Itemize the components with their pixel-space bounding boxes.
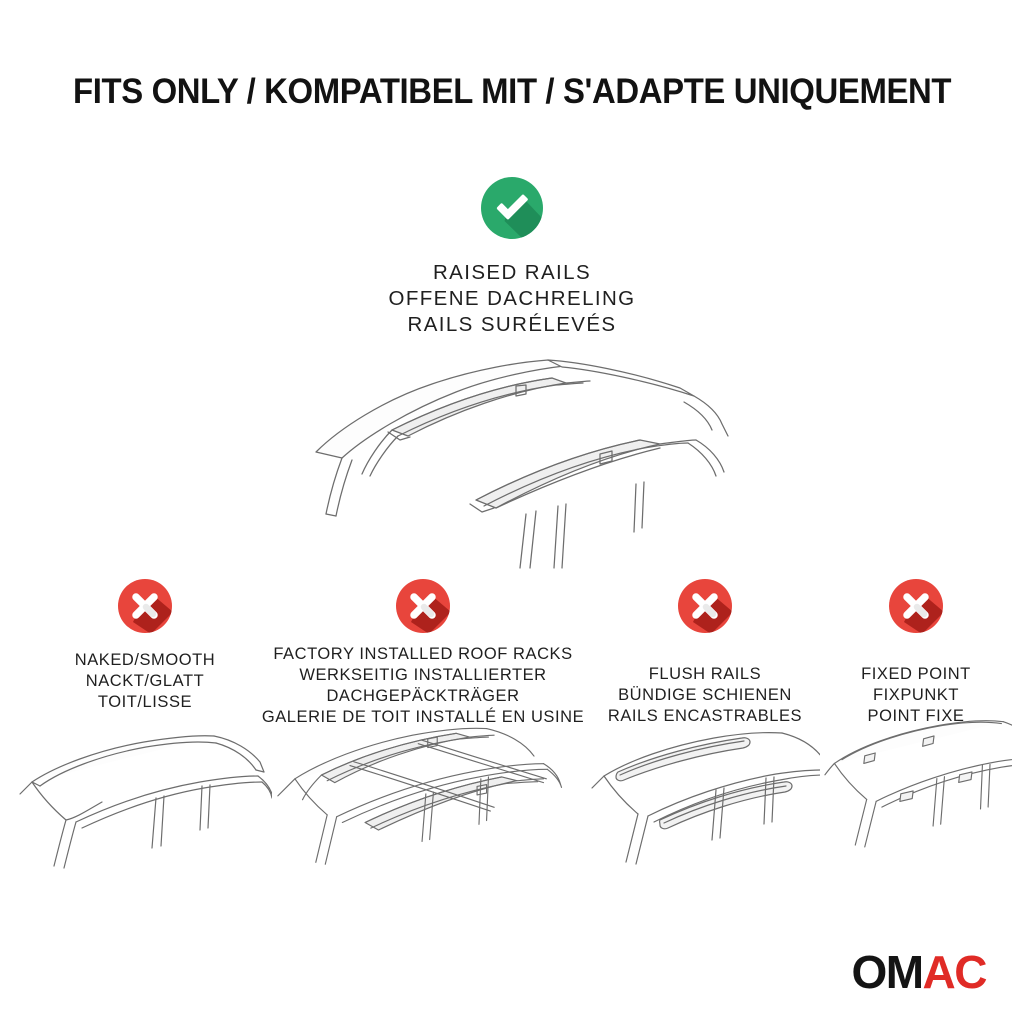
car-roof-flush-rails-drawing	[590, 728, 820, 913]
cross-circle-icon	[117, 578, 173, 634]
incompatible-item-fixed-point: FIXED POINT FIXPUNKT POINT FIXE	[820, 578, 1012, 727]
cross-circle-icon	[888, 578, 944, 634]
label-de-2: DACHGEPÄCKTRÄGER	[258, 686, 588, 707]
incompatible-item-naked-smooth: NAKED/SMOOTH NACKT/GLATT TOIT/LISSE	[18, 578, 272, 713]
car-roof-fixed-point-drawing	[820, 716, 1012, 901]
logo-text-ac: AC	[923, 950, 986, 994]
label-de-1: WERKSEITIG INSTALLIERTER	[258, 665, 588, 686]
label-fr: RAILS ENCASTRABLES	[590, 706, 820, 727]
incompatible-labels-factory-racks: FACTORY INSTALLED ROOF RACKS WERKSEITIG …	[258, 644, 588, 728]
compatible-label-en: RAISED RAILS	[0, 260, 1024, 286]
label-de: FIXPUNKT	[820, 685, 1012, 706]
incompatible-labels-naked-smooth: NAKED/SMOOTH NACKT/GLATT TOIT/LISSE	[18, 650, 272, 713]
page-title-bar: FITS ONLY / KOMPATIBEL MIT / S'ADAPTE UN…	[0, 72, 1024, 112]
label-en: FLUSH RAILS	[590, 664, 820, 685]
label-en: FACTORY INSTALLED ROOF RACKS	[258, 644, 588, 665]
car-roof-factory-racks-drawing	[258, 720, 588, 905]
label-de: NACKT/GLATT	[18, 671, 272, 692]
incompatible-section: NAKED/SMOOTH NACKT/GLATT TOIT/LISSE	[0, 578, 1024, 918]
label-en: NAKED/SMOOTH	[18, 650, 272, 671]
omac-logo: OMAC	[851, 950, 986, 994]
incompatible-item-flush-rails: FLUSH RAILS BÜNDIGE SCHIENEN RAILS ENCAS…	[590, 578, 820, 727]
compatible-labels: RAISED RAILS OFFENE DACHRELING RAILS SUR…	[0, 260, 1024, 338]
incompatible-item-factory-racks: FACTORY INSTALLED ROOF RACKS WERKSEITIG …	[258, 578, 588, 728]
incompatible-labels-flush-rails: FLUSH RAILS BÜNDIGE SCHIENEN RAILS ENCAS…	[590, 664, 820, 727]
compatible-section: RAISED RAILS OFFENE DACHRELING RAILS SUR…	[0, 176, 1024, 338]
car-roof-naked-drawing	[18, 730, 272, 915]
label-de: BÜNDIGE SCHIENEN	[590, 685, 820, 706]
compatible-label-fr: RAILS SURÉLEVÉS	[0, 312, 1024, 338]
cross-circle-icon	[677, 578, 733, 634]
compatible-label-de: OFFENE DACHRELING	[0, 286, 1024, 312]
car-roof-raised-rails-drawing	[280, 356, 750, 576]
label-fr: TOIT/LISSE	[18, 692, 272, 713]
check-circle-icon	[480, 176, 544, 240]
page-title: FITS ONLY / KOMPATIBEL MIT / S'ADAPTE UN…	[73, 72, 951, 112]
cross-circle-icon	[395, 578, 451, 634]
logo-text-om: OM	[851, 950, 922, 994]
label-en: FIXED POINT	[820, 664, 1012, 685]
